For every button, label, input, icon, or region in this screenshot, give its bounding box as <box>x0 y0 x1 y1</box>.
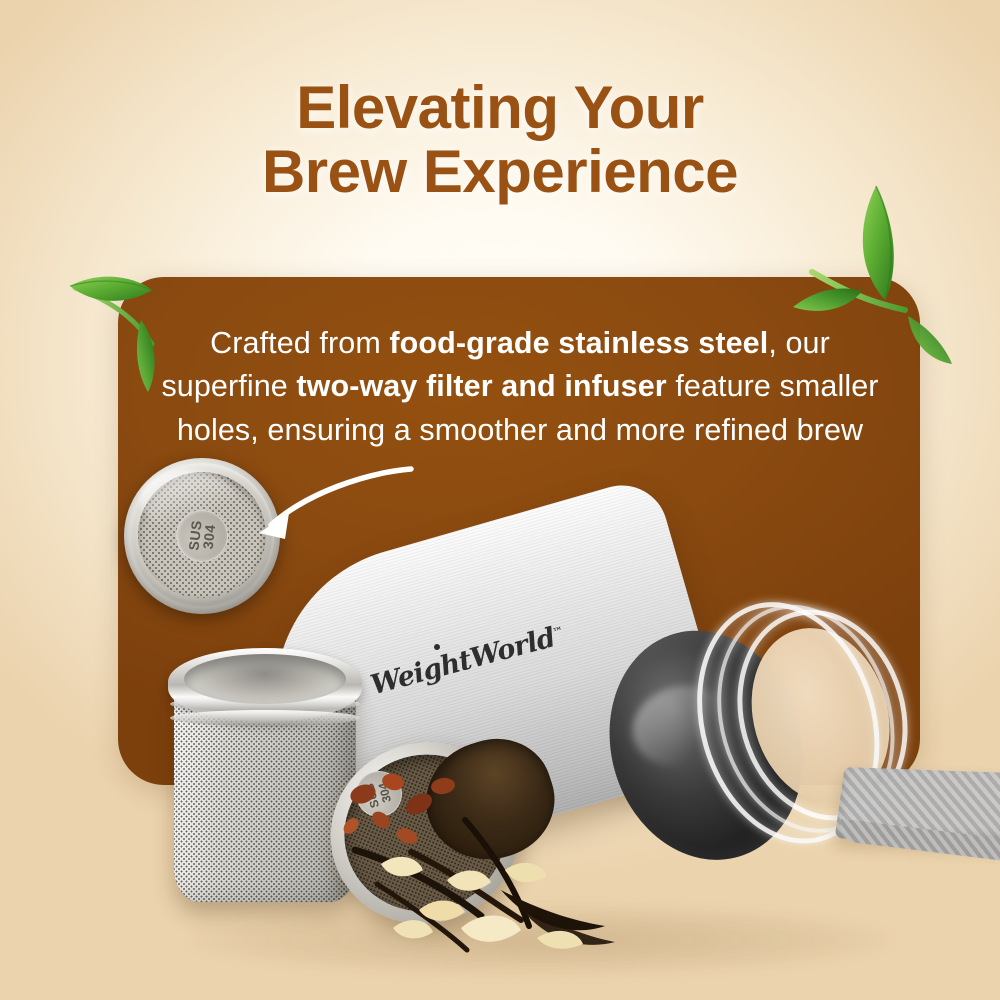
basket-thread-2 <box>170 710 360 726</box>
heading-line-1: Elevating Your <box>296 74 704 141</box>
loose-leaf-tea-spill <box>315 760 645 970</box>
body-bold-2: two-way filter and infuser <box>296 369 666 403</box>
curved-arrow-icon <box>215 455 415 555</box>
body-seg-1: Crafted from <box>210 326 389 360</box>
flower-petals <box>381 857 583 949</box>
dried-fruit-pieces <box>341 771 456 846</box>
basket-opening <box>184 654 346 704</box>
panel-body-text: Crafted from food-grade stainless steel,… <box>150 322 890 452</box>
product-banner: Elevating Your Brew Experience <box>0 0 1000 1000</box>
body-bold-1: food-grade stainless steel <box>389 326 768 360</box>
carry-strap <box>835 767 1000 845</box>
heading-line-2: Brew Experience <box>0 140 1000 204</box>
page-title: Elevating Your Brew Experience <box>0 76 1000 204</box>
